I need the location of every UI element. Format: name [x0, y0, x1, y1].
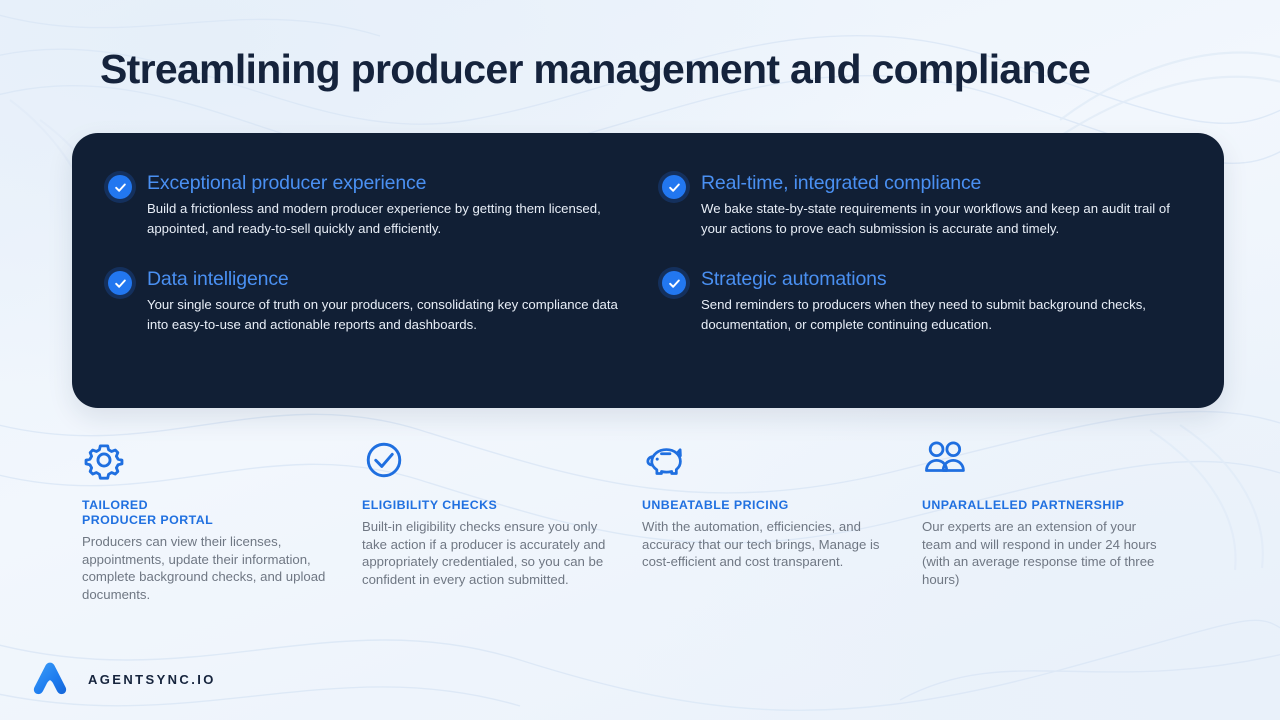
slide-page: Streamlining producer management and com… — [0, 0, 1280, 720]
feature-description: Your single source of truth on your prod… — [147, 295, 640, 335]
check-circle-icon — [662, 175, 686, 199]
benefit-eligibility-checks: ELIGIBILITY CHECKS Built-in eligibility … — [362, 438, 642, 603]
gear-icon — [82, 438, 328, 484]
benefit-tailored-producer-portal: TAILORED PRODUCER PORTAL Producers can v… — [82, 438, 362, 603]
benefits-row: TAILORED PRODUCER PORTAL Producers can v… — [82, 438, 1202, 603]
feature-real-time-integrated-compliance: Real-time, integrated compliance We bake… — [662, 171, 1194, 239]
benefit-unbeatable-pricing: UNBEATABLE PRICING With the automation, … — [642, 438, 922, 603]
feature-title: Real-time, integrated compliance — [701, 171, 1194, 195]
features-grid: Exceptional producer experience Build a … — [108, 171, 1194, 335]
features-column-left: Exceptional producer experience Build a … — [108, 171, 640, 335]
people-icon — [922, 438, 1168, 484]
benefit-unparalleled-partnership: UNPARALLELED PARTNERSHIP Our experts are… — [922, 438, 1202, 603]
footer-wordmark: AGENTSYNC.IO — [88, 672, 216, 687]
check-circle-icon — [662, 271, 686, 295]
benefit-label: UNPARALLELED PARTNERSHIP — [922, 498, 1168, 513]
feature-description: Build a frictionless and modern producer… — [147, 199, 640, 239]
feature-strategic-automations: Strategic automations Send reminders to … — [662, 267, 1194, 335]
agentsync-a-logo-icon — [28, 657, 72, 701]
page-title: Streamlining producer management and com… — [100, 44, 1200, 94]
features-column-right: Real-time, integrated compliance We bake… — [662, 171, 1194, 335]
footer-brand: AGENTSYNC.IO — [28, 657, 216, 701]
feature-description: Send reminders to producers when they ne… — [701, 295, 1194, 335]
benefit-description: Built-in eligibility checks ensure you o… — [362, 518, 608, 588]
feature-title: Strategic automations — [701, 267, 1194, 291]
check-circle-outline-icon — [362, 438, 608, 484]
benefit-description: Our experts are an extension of your tea… — [922, 518, 1168, 588]
benefit-label: ELIGIBILITY CHECKS — [362, 498, 608, 513]
benefit-label: UNBEATABLE PRICING — [642, 498, 888, 513]
benefit-label: TAILORED PRODUCER PORTAL — [82, 498, 328, 528]
features-card: Exceptional producer experience Build a … — [72, 133, 1224, 408]
feature-description: We bake state-by-state requirements in y… — [701, 199, 1194, 239]
feature-title: Data intelligence — [147, 267, 640, 291]
piggy-bank-icon — [642, 438, 888, 484]
benefit-description: With the automation, efficiencies, and a… — [642, 518, 888, 571]
benefit-description: Producers can view their licenses, appoi… — [82, 533, 328, 603]
feature-title: Exceptional producer experience — [147, 171, 640, 195]
check-circle-icon — [108, 271, 132, 295]
check-circle-icon — [108, 175, 132, 199]
feature-exceptional-producer-experience: Exceptional producer experience Build a … — [108, 171, 640, 239]
feature-data-intelligence: Data intelligence Your single source of … — [108, 267, 640, 335]
